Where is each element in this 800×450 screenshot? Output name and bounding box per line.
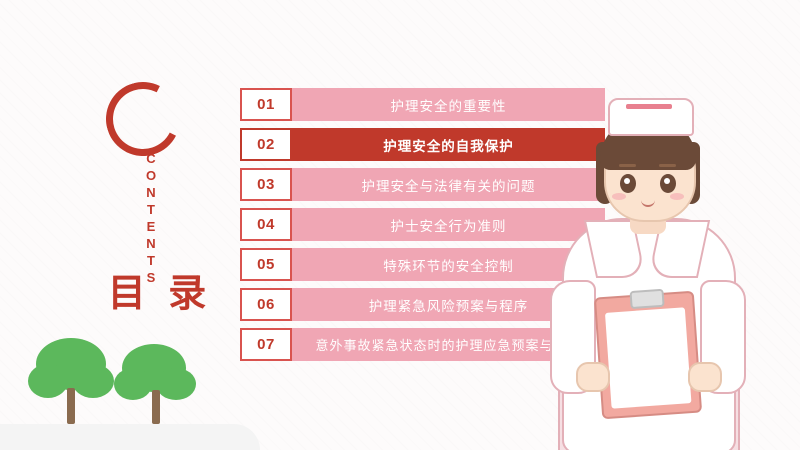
contents-heading: C O N T E N T S 目 录 <box>92 82 222 382</box>
nurse-hand-left <box>576 362 610 392</box>
nurse-cap-stripe <box>626 104 672 109</box>
contents-letters: C O N T E N T S <box>138 150 164 286</box>
nurse-blush-left <box>612 193 626 200</box>
agenda-number-04: 04 <box>240 208 292 241</box>
tree-right-icon <box>112 344 198 424</box>
nurse-eye-left <box>620 174 636 193</box>
nurse-hand-right <box>688 362 722 392</box>
agenda-number-05: 05 <box>240 248 292 281</box>
contents-letter: N <box>138 184 164 201</box>
agenda-number-02: 02 <box>240 128 292 161</box>
agenda-number-03: 03 <box>240 168 292 201</box>
nurse-brow-right <box>659 164 676 167</box>
agenda-number-01: 01 <box>240 88 292 121</box>
contents-letter: N <box>138 235 164 252</box>
slide-canvas: C O N T E N T S 目 录 01 护理安全的重要性 02 护理安全的… <box>0 0 800 450</box>
tree-left-icon <box>28 338 114 424</box>
clipboard-clip <box>629 289 664 309</box>
agenda-number-07: 07 <box>240 328 292 361</box>
agenda-number-06: 06 <box>240 288 292 321</box>
contents-letter: C <box>138 150 164 167</box>
ground-decoration <box>0 424 260 450</box>
contents-title-cn: 目 录 <box>100 272 220 316</box>
nurse-illustration <box>542 90 752 450</box>
nurse-blush-right <box>670 193 684 200</box>
nurse-brow-left <box>619 164 636 167</box>
contents-letter: T <box>138 252 164 269</box>
nurse-eye-right <box>660 174 676 193</box>
clipboard-paper <box>605 307 692 408</box>
contents-letter: O <box>138 167 164 184</box>
clipboard-icon <box>594 291 702 420</box>
contents-letter: E <box>138 218 164 235</box>
contents-letter: T <box>138 201 164 218</box>
